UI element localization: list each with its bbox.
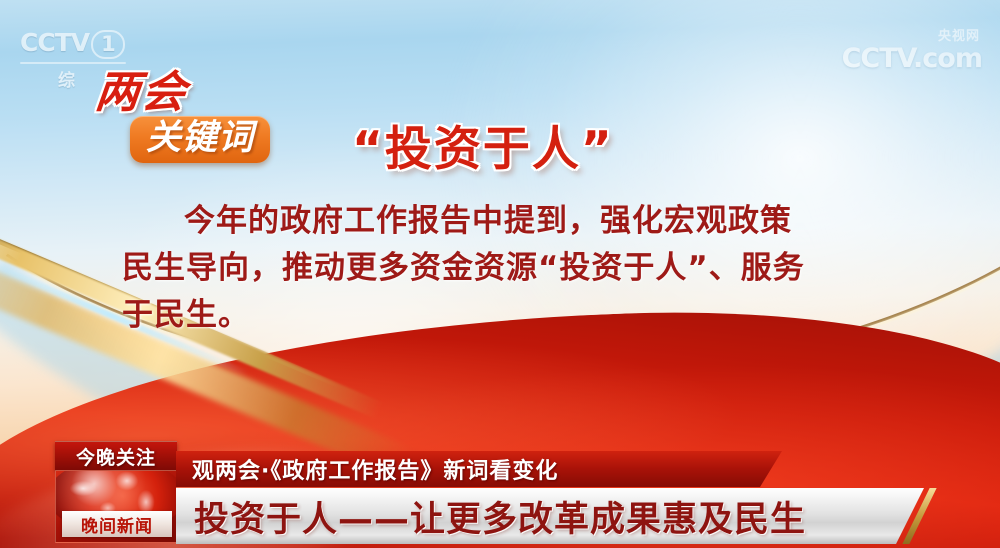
keyword-badge-label: 关键词 — [146, 120, 254, 157]
lower-third: 今晚关注 晚间新闻 观两会·《政府工作报告》新词看变化 投资于人——让更多改革成… — [0, 438, 1000, 548]
body-line: 今年的政府工作报告中提到，强化宏观政策 — [122, 198, 890, 245]
program-logo: 晚间新闻 — [55, 470, 177, 543]
network-watermark: 央视网 CCTV.com — [842, 30, 982, 72]
body-paragraph: 今年的政府工作报告中提到，强化宏观政策 民生导向，推动更多资金资源“投资于人”、… — [122, 198, 890, 339]
main-headline-label: 投资于人——让更多改革成果惠及民生 — [194, 491, 806, 542]
tonight-focus-tab: 今晚关注 — [55, 441, 177, 470]
topic-title: 两会 — [93, 56, 192, 120]
watermark-chinese-label: 央视网 — [842, 30, 980, 43]
broadcast-frame: CCTV 1 综 央视网 CCTV.com 两会 关键词 “投资于人” 今年的政… — [0, 0, 1000, 548]
channel-number-label: 1 — [91, 30, 125, 59]
sub-headline-label: 观两会·《政府工作报告》新词看变化 — [192, 453, 558, 485]
body-line: 民生导向，推动更多资金资源“投资于人”、服务 — [122, 245, 890, 292]
page-title: “投资于人” — [352, 110, 614, 179]
watermark-domain-label: CCTV.com — [842, 45, 982, 72]
body-line: 于民生。 — [122, 292, 890, 339]
program-name-plate: 晚间新闻 — [62, 511, 172, 537]
channel-network-label: CCTV — [20, 30, 89, 55]
tonight-focus-label: 今晚关注 — [76, 443, 156, 470]
keyword-badge: 关键词 — [130, 116, 270, 163]
main-headline-bar: 投资于人——让更多改革成果惠及民生 — [176, 488, 924, 544]
program-name-label: 晚间新闻 — [81, 512, 153, 537]
sub-headline-bar: 观两会·《政府工作报告》新词看变化 — [176, 451, 782, 487]
